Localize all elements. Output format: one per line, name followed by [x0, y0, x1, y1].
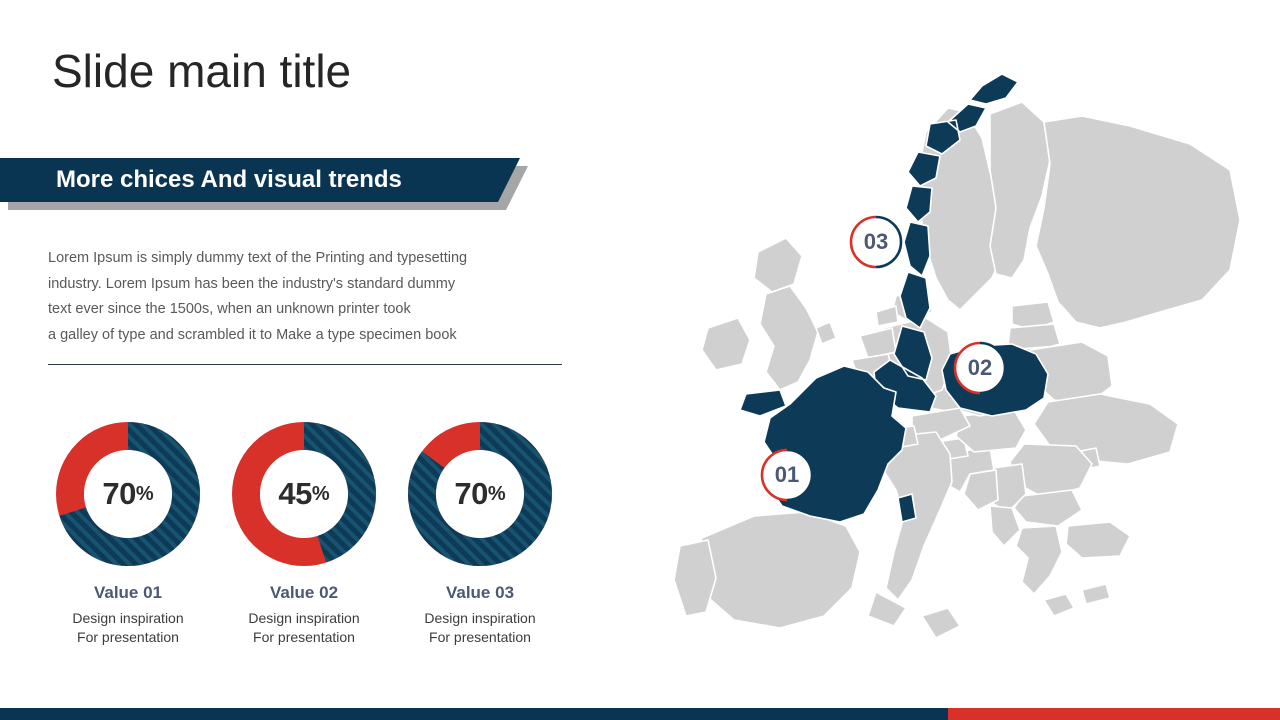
- donut-chart-3: 70%: [406, 420, 554, 568]
- donut-title-1: Value 01: [94, 583, 162, 603]
- map-marker-03[interactable]: 03: [848, 214, 904, 270]
- ribbon-banner: More chices And visual trends: [0, 158, 520, 202]
- donut-subtitle-2-line-2: For presentation: [248, 628, 359, 647]
- donut-title-3: Value 03: [446, 583, 514, 603]
- body-line-1: Lorem Ipsum is simply dummy text of the …: [48, 246, 568, 272]
- map-marker-01[interactable]: 01: [759, 447, 815, 503]
- europe-map: [630, 60, 1250, 680]
- map-marker-03-label: 03: [848, 214, 904, 270]
- body-line-3: text ever since the 1500s, when an unkno…: [48, 297, 568, 323]
- donut-chart-2: 45%: [230, 420, 378, 568]
- donut-subtitle-3: Design inspiration For presentation: [424, 609, 535, 647]
- donut-title-2: Value 02: [270, 583, 338, 603]
- horizontal-divider: [48, 364, 562, 365]
- donut-subtitle-1-line-1: Design inspiration: [72, 609, 183, 628]
- ribbon-heading: More chices And visual trends: [56, 166, 402, 194]
- donut-item-1: 70% Value 01 Design inspiration For pres…: [40, 420, 216, 647]
- donut-subtitle-1: Design inspiration For presentation: [72, 609, 183, 647]
- donut-subtitle-2: Design inspiration For presentation: [248, 609, 359, 647]
- donut-item-3: 70% Value 03 Design inspiration For pres…: [392, 420, 568, 647]
- body-line-4: a galley of type and scrambled it to Mak…: [48, 323, 568, 349]
- map-marker-01-label: 01: [759, 447, 815, 503]
- donut-subtitle-1-line-2: For presentation: [72, 628, 183, 647]
- body-paragraph: Lorem Ipsum is simply dummy text of the …: [48, 246, 568, 348]
- donut-subtitle-3-line-1: Design inspiration: [424, 609, 535, 628]
- page-title: Slide main title: [52, 44, 351, 98]
- donut-chart-1: 70%: [54, 420, 202, 568]
- donut-item-2: 45% Value 02 Design inspiration For pres…: [216, 420, 392, 647]
- footer-bar-right: [948, 708, 1280, 720]
- section-ribbon: More chices And visual trends: [0, 158, 540, 214]
- map-marker-02[interactable]: 02: [952, 340, 1008, 396]
- footer-bar-left: [0, 708, 948, 720]
- donut-chart-group: 70% Value 01 Design inspiration For pres…: [40, 420, 570, 647]
- country-corsica: [898, 494, 916, 522]
- map-marker-02-label: 02: [952, 340, 1008, 396]
- body-line-2: industry. Lorem Ipsum has been the indus…: [48, 272, 568, 298]
- donut-subtitle-3-line-2: For presentation: [424, 628, 535, 647]
- donut-subtitle-2-line-1: Design inspiration: [248, 609, 359, 628]
